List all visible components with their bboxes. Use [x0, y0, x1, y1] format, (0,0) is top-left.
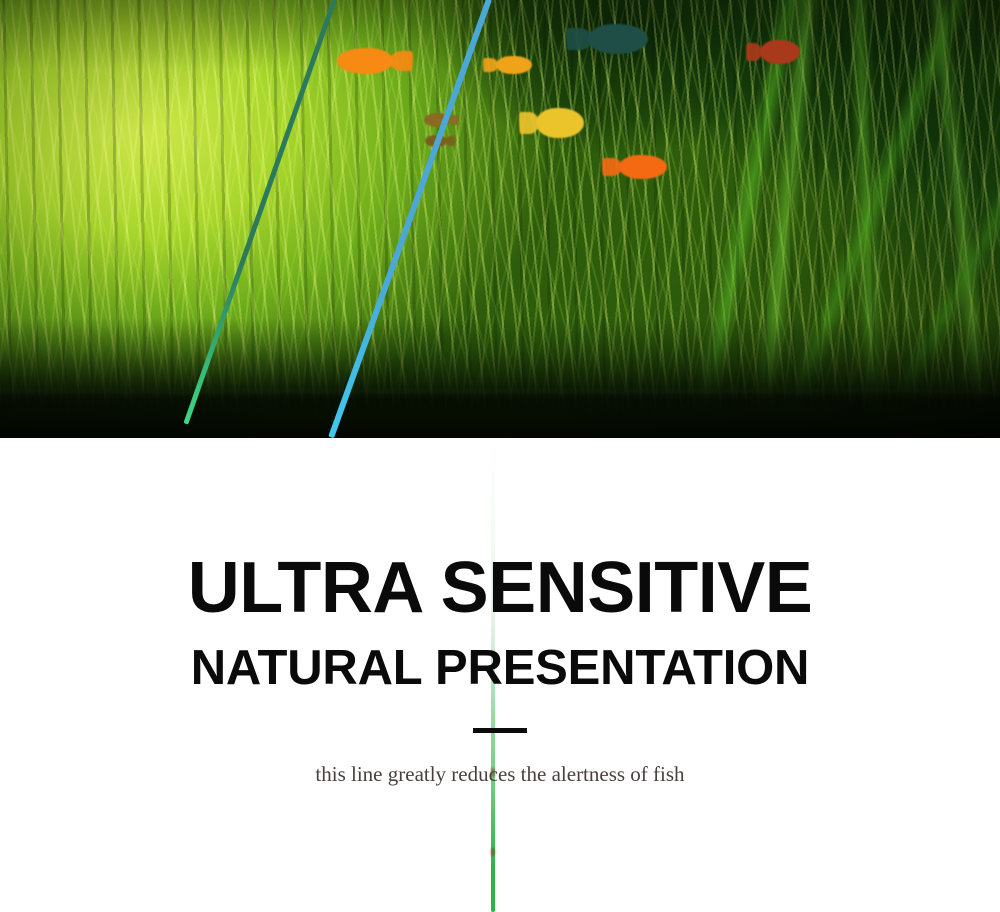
caption-text: this line greatly reduces the alertness …	[0, 762, 1000, 787]
page-subtitle: NATURAL PRESENTATION	[0, 644, 1000, 693]
page-title: ULTRA SENSITIVE	[0, 552, 1000, 624]
product-banner-page: ULTRA SENSITIVE NATURAL PRESENTATION thi…	[0, 0, 1000, 912]
fish-orange-platy-left	[337, 48, 393, 74]
fish-orange-swordtail	[619, 155, 667, 179]
line-knot-2	[491, 848, 495, 856]
fish-red-tetra-right	[760, 40, 800, 64]
aquarium-photo	[0, 0, 1000, 438]
rule-divider	[473, 728, 527, 733]
fish-orange-platy-mid	[496, 56, 532, 74]
fish-dark-barb-top	[588, 24, 648, 54]
fish-yellow-platy-mid	[536, 108, 584, 138]
copy-block: ULTRA SENSITIVE NATURAL PRESENTATION thi…	[0, 438, 1000, 912]
